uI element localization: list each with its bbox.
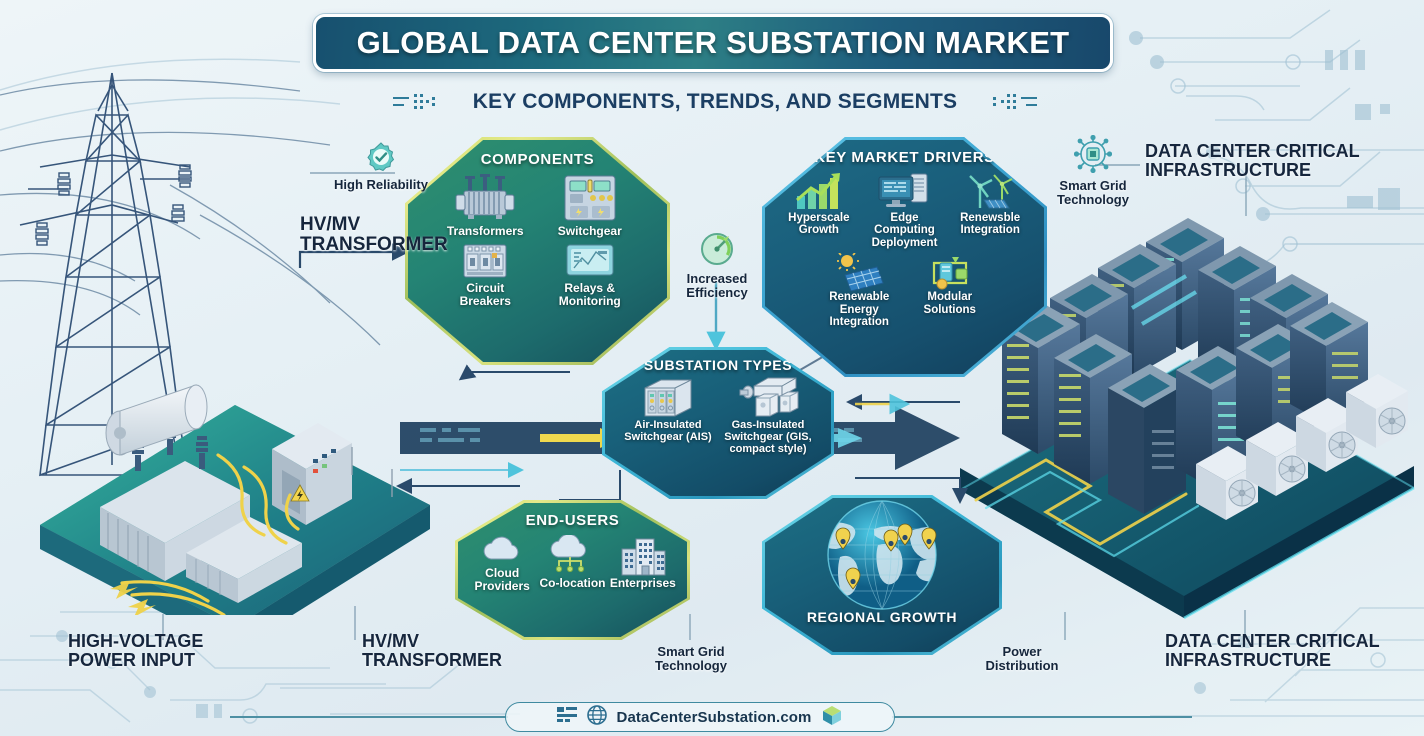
gis-module-icon: [734, 376, 802, 418]
panel-key-market-drivers[interactable]: KEY MARKET DRIVERS Hyperscale Growth: [762, 137, 1047, 377]
item-renewsble-integration-label: Renewsble Integration: [950, 212, 1030, 237]
page-title: GLOBAL DATA CENTER SUBSTATION MARKET: [313, 14, 1113, 72]
item-edge-computing-label: Edge Computing Deployment: [862, 212, 948, 249]
annotation-high-voltage-power-input: HIGH-VOLTAGE POWER INPUT: [68, 632, 268, 670]
annotation-hv-mv-transformer-top-label: HV/MV TRANSFORMER: [300, 214, 448, 255]
globe-map-pins-icon: [782, 499, 982, 611]
office-building-icon: [618, 535, 668, 577]
panel-regional-growth-title: REGIONAL GROWTH: [807, 609, 957, 625]
item-enterprises-label: Enterprises: [610, 577, 676, 590]
circuit-breaker-icon: [461, 242, 509, 280]
panel-substation-types-items: Air-Insulated Switchgear (AIS) Gas-: [602, 373, 834, 456]
item-transformers-label: Transformers: [447, 225, 524, 238]
network-chip-icon: [1074, 135, 1112, 173]
annotation-dc-critical-infrastructure-bottom: DATA CENTER CRITICAL INFRASTRUCTURE: [1165, 632, 1415, 670]
annotation-smart-grid-technology-top: Smart Grid Technology: [1040, 135, 1146, 207]
item-gas-insulated-switchgear[interactable]: Gas-Insulated Switchgear (GIS, compact s…: [718, 376, 818, 456]
annotation-hv-mv-transformer-bottom-label: HV/MV TRANSFORMER: [362, 631, 502, 670]
cloud-icon: [479, 535, 525, 565]
footer-rule-left: [230, 716, 508, 718]
annotation-smart-grid-technology-bottom: Smart Grid Technology: [643, 645, 739, 673]
annotation-smart-grid-technology-bottom-label: Smart Grid Technology: [655, 644, 727, 673]
panel-components-title: COMPONENTS: [481, 151, 595, 168]
item-cloud-providers[interactable]: Cloud Providers: [467, 535, 537, 593]
annotation-dc-critical-infrastructure-top: DATA CENTER CRITICAL INFRASTRUCTURE: [1145, 142, 1360, 180]
cloud-network-icon: [546, 535, 598, 577]
cube-icon: [821, 704, 843, 731]
footer-bar[interactable]: DataCenterSubstation.com: [505, 702, 895, 732]
item-co-location-label: Co-location: [539, 577, 605, 590]
annotation-increased-efficiency-label: Increased Efficiency: [672, 272, 762, 300]
relay-monitor-icon: [564, 242, 616, 280]
panel-end-users[interactable]: END-USERS Cloud Providers Co-location: [455, 500, 690, 640]
transformer-icon: [450, 174, 520, 224]
subtitle: KEY COMPONENTS, TRENDS, AND SEGMENTS: [370, 86, 1060, 118]
page-title-text: GLOBAL DATA CENTER SUBSTATION MARKET: [357, 25, 1070, 61]
gear-check-icon: [366, 142, 396, 172]
annotation-hv-mv-transformer-top: HV/MV TRANSFORMER: [300, 215, 450, 255]
computer-server-icon: [875, 170, 933, 212]
switchgear-cabinet-icon: [559, 174, 621, 224]
item-edge-computing[interactable]: Edge Computing Deployment: [862, 170, 948, 249]
panel-key-market-drivers-title: KEY MARKET DRIVERS: [814, 149, 995, 166]
solar-panel-sun-icon: [831, 253, 887, 291]
item-gis-label: Gas-Insulated Switchgear (GIS, compact s…: [718, 420, 818, 456]
panel-end-users-items: Cloud Providers Co-location: [455, 529, 690, 593]
ais-cabinet-icon: [637, 376, 699, 418]
item-air-insulated-switchgear[interactable]: Air-Insulated Switchgear (AIS): [618, 376, 718, 456]
decoration-dots-right: [971, 90, 1037, 114]
modular-blocks-icon: [922, 253, 978, 291]
item-cloud-providers-label: Cloud Providers: [467, 567, 537, 593]
item-relays-monitoring-label: Relays & Monitoring: [548, 282, 632, 308]
panel-regional-growth[interactable]: REGIONAL GROWTH: [762, 495, 1002, 655]
item-switchgear-label: Switchgear: [558, 225, 622, 238]
wind-turbine-solar-icon: [962, 170, 1018, 212]
annotation-high-reliability: High Reliability: [332, 142, 430, 192]
panel-kmd-row1: Hyperscale Growth Edge Computing Deploym…: [762, 166, 1047, 249]
panel-substation-types[interactable]: SUBSTATION TYPES Air-Insulated Switchgea…: [602, 347, 834, 499]
annotation-dc-critical-infrastructure-top-label: DATA CENTER CRITICAL INFRASTRUCTURE: [1145, 141, 1359, 180]
item-modular-solutions-label: Modular Solutions: [912, 291, 988, 316]
annotation-high-voltage-power-input-label: HIGH-VOLTAGE POWER INPUT: [68, 631, 203, 670]
item-circuit-breakers-label: Circuit Breakers: [443, 282, 527, 308]
panel-end-users-title: END-USERS: [526, 512, 620, 529]
subtitle-text: KEY COMPONENTS, TRENDS, AND SEGMENTS: [473, 90, 957, 114]
annotation-dc-critical-infrastructure-bottom-label: DATA CENTER CRITICAL INFRASTRUCTURE: [1165, 631, 1379, 670]
annotation-power-distribution-label: Power Distribution: [986, 644, 1059, 673]
decoration-dots-left: [393, 90, 459, 114]
list-blocks-icon: [557, 706, 577, 729]
panel-substation-types-title: SUBSTATION TYPES: [644, 357, 792, 373]
annotation-hv-mv-transformer-bottom: HV/MV TRANSFORMER: [362, 632, 532, 670]
annotation-increased-efficiency: Increased Efficiency: [672, 232, 762, 300]
infographic-canvas: GLOBAL DATA CENTER SUBSTATION MARKET KEY…: [0, 0, 1424, 736]
panel-kmd-row2: Renewable Energy Integration Modular Sol…: [762, 249, 1047, 328]
item-switchgear[interactable]: Switchgear: [538, 174, 643, 238]
annotation-high-reliability-label: High Reliability: [332, 178, 430, 192]
item-modular-solutions[interactable]: Modular Solutions: [905, 253, 996, 328]
footer-rule-right: [892, 716, 1192, 718]
item-ais-label: Air-Insulated Switchgear (AIS): [622, 420, 714, 444]
item-enterprises[interactable]: Enterprises: [608, 535, 678, 593]
item-renewable-energy-integration-label: Renewable Energy Integration: [816, 291, 902, 328]
gauge-icon: [700, 232, 734, 266]
annotation-smart-grid-technology-top-label: Smart Grid Technology: [1040, 179, 1146, 207]
item-co-location[interactable]: Co-location: [537, 535, 607, 593]
footer-website-label[interactable]: DataCenterSubstation.com: [617, 709, 812, 726]
annotation-power-distribution: Power Distribution: [970, 645, 1074, 673]
growth-chart-icon: [791, 170, 847, 212]
item-renewable-energy-integration[interactable]: Renewable Energy Integration: [814, 253, 905, 328]
globe-icon: [587, 705, 607, 730]
item-relays-monitoring[interactable]: Relays & Monitoring: [538, 242, 643, 308]
item-hyperscale-growth-label: Hyperscale Growth: [779, 212, 859, 237]
